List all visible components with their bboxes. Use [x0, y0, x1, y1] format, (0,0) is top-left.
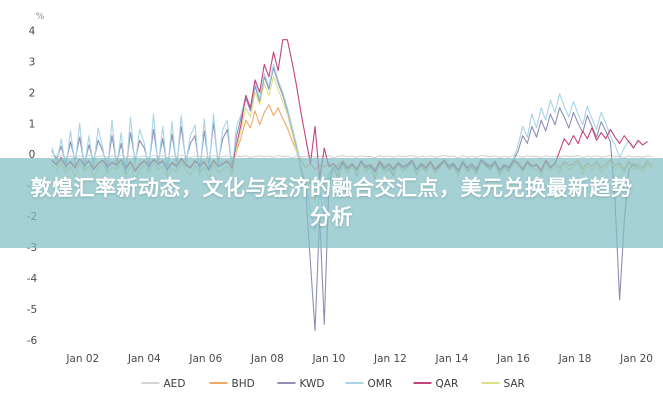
x-tick-label: Jan 20	[619, 353, 653, 365]
x-axis-ticks: Jan 02Jan 04Jan 06Jan 08Jan 10Jan 12Jan …	[65, 353, 653, 365]
unit-label: %	[36, 12, 45, 22]
legend-label-kwd[interactable]: KWD	[300, 378, 325, 390]
y-tick-label: 1	[29, 118, 36, 130]
x-tick-label: Jan 16	[496, 353, 530, 365]
x-tick-label: Jan 10	[311, 353, 345, 365]
y-tick-label: -2	[27, 211, 37, 223]
series-line-kwd	[52, 68, 638, 331]
legend-label-sar[interactable]: SAR	[504, 378, 525, 390]
y-tick-label: -1	[27, 180, 37, 192]
series-lines	[52, 40, 652, 331]
x-tick-label: Jan 02	[65, 353, 99, 365]
x-tick-label: Jan 06	[188, 353, 222, 365]
series-line-qar	[52, 40, 647, 179]
y-axis-unit-label: %	[36, 12, 45, 22]
x-tick-label: Jan 18	[558, 353, 592, 365]
y-tick-label: 3	[29, 56, 36, 68]
line-chart: 43210-1-2-3-4-5-6 Jan 02Jan 04Jan 06Jan …	[0, 0, 663, 400]
series-line-sar	[52, 77, 652, 201]
x-tick-label: Jan 12	[373, 353, 407, 365]
y-tick-label: 0	[29, 149, 36, 161]
y-tick-label: -5	[27, 304, 37, 316]
y-tick-label: 2	[29, 87, 36, 99]
legend-label-bhd[interactable]: BHD	[232, 378, 255, 390]
x-tick-label: Jan 08	[250, 353, 284, 365]
chart-legend: AEDBHDKWDOMRQARSAR	[142, 378, 525, 390]
y-axis-ticks: 43210-1-2-3-4-5-6	[27, 25, 38, 347]
y-tick-label: -3	[27, 242, 37, 254]
x-tick-label: Jan 14	[435, 353, 469, 365]
y-tick-label: -6	[27, 335, 38, 347]
legend-label-omr[interactable]: OMR	[368, 378, 393, 390]
series-line-omr	[52, 64, 638, 231]
exchange-rate-chart-page: 43210-1-2-3-4-5-6 Jan 02Jan 04Jan 06Jan …	[0, 0, 663, 400]
series-line-aed	[52, 155, 652, 158]
x-tick-label: Jan 04	[127, 353, 161, 365]
y-tick-label: -4	[27, 273, 38, 285]
legend-label-qar[interactable]: QAR	[436, 378, 459, 390]
y-tick-label: 4	[29, 25, 36, 37]
legend-label-aed[interactable]: AED	[164, 378, 186, 390]
